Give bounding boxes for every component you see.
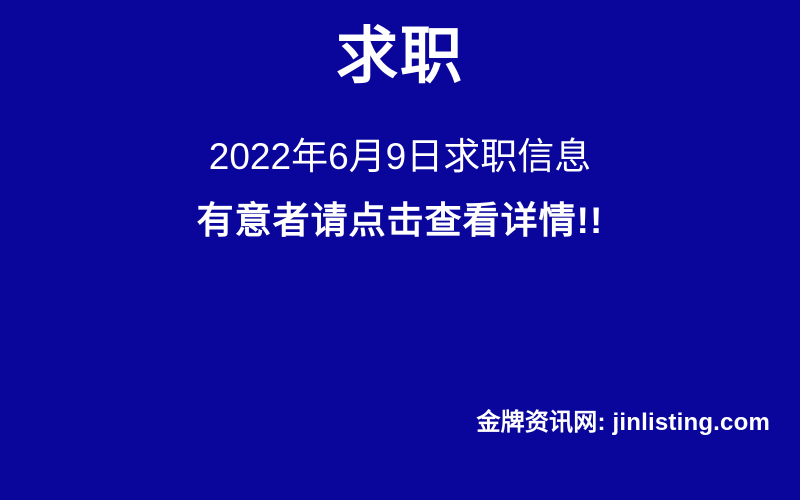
subtitle-line-call-to-action[interactable]: 有意者请点击查看详情!! [0, 202, 800, 239]
footer-separator: : [597, 409, 612, 436]
page-title: 求职 [0, 24, 800, 91]
watermark-footer: 金牌资讯网: jinlisting.com [0, 402, 770, 437]
site-url-label[interactable]: jinlisting.com [613, 409, 770, 436]
subtitle-block: 2022年6月9日求职信息 有意者请点击查看详情!! [0, 138, 800, 239]
job-posting-poster: 求职 2022年6月9日求职信息 有意者请点击查看详情!! 金牌资讯网: jin… [0, 0, 800, 500]
subtitle-line-date: 2022年6月9日求职信息 [0, 138, 800, 175]
site-name-label: 金牌资讯网 [476, 409, 597, 436]
